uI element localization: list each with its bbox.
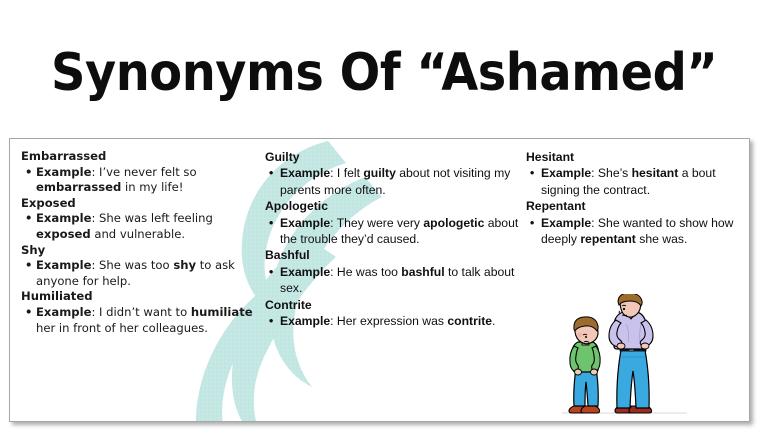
synonym-example-row: • Example: Her expression was contrite. (265, 313, 520, 329)
synonym-example-text: Example: She was too shy to ask anyone f… (36, 258, 269, 289)
example-separator: : (91, 165, 99, 179)
synonym-column-1: Embarrassed • Example: I’ve never felt s… (21, 149, 269, 336)
keyword: apologetic (423, 216, 484, 230)
example-sentence: Her expression was contrite. (337, 314, 496, 328)
sentence-text: . (492, 314, 495, 328)
example-label: Example (280, 216, 330, 230)
example-label: Example (36, 165, 91, 179)
ashamed-boy-and-adult-illustration (562, 294, 687, 419)
synonym-term: Bashful (265, 247, 520, 263)
example-separator: : (591, 216, 598, 230)
synonym-example-text: Example: Her expression was contrite. (280, 313, 520, 329)
example-separator: : (591, 166, 598, 180)
bullet-icon: • (21, 258, 36, 274)
synonym-example-text: Example: I didn’t want to humiliate her … (36, 305, 269, 336)
sentence-text: She was left feeling (99, 211, 213, 225)
example-label: Example (36, 211, 91, 225)
example-separator: : (330, 265, 337, 279)
sentence-text: They were very (337, 216, 424, 230)
content-card: Embarrassed • Example: I’ve never felt s… (9, 138, 750, 422)
synonym-example-row: • Example: I’ve never felt so embarrasse… (21, 165, 269, 196)
keyword: embarrassed (36, 180, 121, 194)
synonym-example-row: • Example: She was too shy to ask anyone… (21, 258, 269, 289)
example-separator: : (330, 314, 337, 328)
keyword: bashful (401, 265, 444, 279)
sentence-text: I’ve never felt so (99, 165, 197, 179)
synonym-term: Apologetic (265, 198, 520, 214)
sentence-text: she was. (636, 232, 687, 246)
synonym-entry: Shy • Example: She was too shy to ask an… (21, 243, 269, 290)
synonym-entry: Exposed • Example: She was left feeling … (21, 196, 269, 243)
keyword: guilty (363, 166, 396, 180)
synonym-entry: Guilty • Example: I felt guilty about no… (265, 149, 520, 198)
sentence-text: in my life! (121, 180, 183, 194)
synonym-column-2: Guilty • Example: I felt guilty about no… (265, 149, 520, 329)
sentence-text: She was too (99, 258, 173, 272)
bullet-icon: • (265, 215, 280, 231)
synonym-example-text: Example: I’ve never felt so embarrassed … (36, 165, 269, 196)
synonym-entry: Humiliated • Example: I didn’t want to h… (21, 289, 269, 336)
synonym-term: Guilty (265, 149, 520, 165)
synonym-entry: Contrite • Example: Her expression was c… (265, 297, 520, 330)
bullet-icon: • (21, 211, 36, 227)
synonym-entry: Apologetic • Example: They were very apo… (265, 198, 520, 247)
keyword: shy (173, 258, 196, 272)
example-label: Example (541, 216, 591, 230)
boy-figure (569, 317, 600, 413)
synonym-term: Contrite (265, 297, 520, 313)
synonym-example-text: Example: He was too bashful to talk abou… (280, 264, 520, 297)
title-bar: Synonyms Of “Ashamed” (0, 38, 768, 108)
synonym-example-row: • Example: She’s hesitant a bout signing… (526, 165, 750, 198)
synonym-term: Shy (21, 243, 269, 259)
example-separator: : (91, 211, 99, 225)
bullet-icon: • (265, 264, 280, 280)
synonym-example-text: Example: She’s hesitant a bout signing t… (541, 165, 750, 198)
sentence-text: Her expression was (337, 314, 447, 328)
bullet-icon: • (265, 165, 280, 181)
synonym-term: Embarrassed (21, 149, 269, 165)
synonym-example-row: • Example: I felt guilty about not visit… (265, 165, 520, 198)
example-label: Example (36, 258, 91, 272)
synonym-term: Hesitant (526, 149, 750, 165)
page-title: Synonyms Of “Ashamed” (51, 47, 717, 99)
example-separator: : (330, 166, 337, 180)
sentence-text: her in front of her colleagues. (36, 321, 208, 335)
synonym-example-text: Example: She was left feeling exposed an… (36, 211, 269, 242)
synonym-example-row: • Example: She wanted to show how deeply… (526, 215, 750, 248)
example-label: Example (280, 166, 330, 180)
synonym-example-text: Example: She wanted to show how deeply r… (541, 215, 750, 248)
bullet-icon: • (265, 313, 280, 329)
sentence-text: I didn’t want to (99, 305, 191, 319)
synonym-entry: Bashful • Example: He was too bashful to… (265, 247, 520, 296)
synonym-example-row: • Example: He was too bashful to talk ab… (265, 264, 520, 297)
example-label: Example (36, 305, 91, 319)
example-separator: : (91, 258, 99, 272)
synonym-entry: Repentant • Example: She wanted to show … (526, 198, 750, 247)
synonym-entry: Embarrassed • Example: I’ve never felt s… (21, 149, 269, 196)
example-label: Example (280, 265, 330, 279)
sentence-text: and vulnerable. (91, 227, 185, 241)
keyword: repentant (580, 232, 636, 246)
bullet-icon: • (526, 215, 541, 231)
synonym-example-row: • Example: I didn’t want to humiliate he… (21, 305, 269, 336)
synonym-example-row: • Example: They were very apologetic abo… (265, 215, 520, 248)
synonym-term: Repentant (526, 198, 750, 214)
synonym-entry: Hesitant • Example: She’s hesitant a bou… (526, 149, 750, 198)
adult-figure (609, 294, 653, 413)
example-separator: : (91, 305, 99, 319)
bullet-icon: • (21, 305, 36, 321)
synonym-example-row: • Example: She was left feeling exposed … (21, 211, 269, 242)
synonym-column-3: Hesitant • Example: She’s hesitant a bou… (526, 149, 750, 247)
synonym-term: Exposed (21, 196, 269, 212)
example-label: Example (541, 166, 591, 180)
keyword: exposed (36, 227, 91, 241)
sentence-text: I felt (337, 166, 363, 180)
keyword: contrite (447, 314, 492, 328)
synonym-example-text: Example: They were very apologetic about… (280, 215, 520, 248)
synonym-term: Humiliated (21, 289, 269, 305)
bullet-icon: • (526, 165, 541, 181)
bullet-icon: • (21, 165, 36, 181)
keyword: humiliate (191, 305, 253, 319)
sentence-text: She’s (598, 166, 632, 180)
synonym-example-text: Example: I felt guilty about not visitin… (280, 165, 520, 198)
sentence-text: He was too (337, 265, 401, 279)
keyword: hesitant (632, 166, 679, 180)
example-label: Example (280, 314, 330, 328)
